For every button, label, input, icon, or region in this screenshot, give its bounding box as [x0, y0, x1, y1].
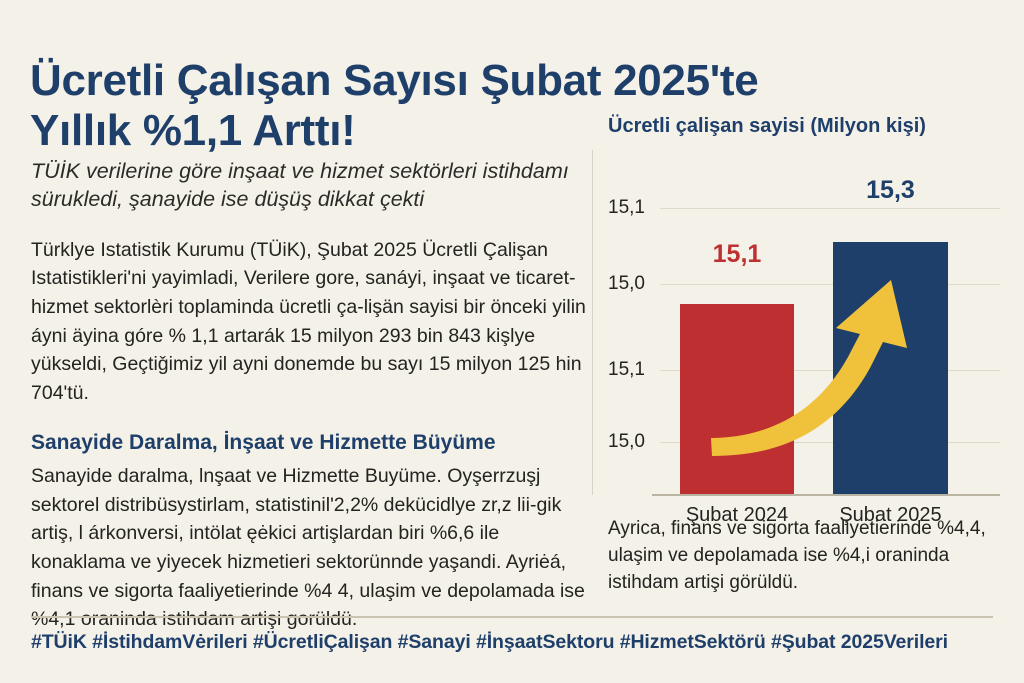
headline-line-1: Ücretli Çalışan Sayısı Şubat 2025'te: [30, 56, 758, 105]
chart-caption: Ayrica, finans ve sigorta faaliyetierind…: [608, 515, 988, 596]
footer-divider: [31, 616, 993, 618]
chart-column: Ücretli çalişan sayisi (Milyon kişi) 15,…: [608, 114, 1000, 507]
bar-subat-2024: [680, 304, 794, 494]
chart-title: Ücretli çalişan sayisi (Milyon kişi): [608, 114, 1000, 138]
infographic-poster: Ücretli Çalışan Sayısı Şubat 2025'te Yıl…: [0, 0, 1024, 683]
body-paragraph-1: Türklye Istatistik Kurumu (TÜiK), Şubat …: [31, 236, 594, 408]
y-axis-tick-2: 15,1: [608, 359, 650, 381]
bar-value-2024: 15,1: [680, 240, 794, 269]
x-axis-line: [652, 494, 1000, 496]
hashtag-footer: #TÜiK #İstihdamVėrileri #ÜcretliÇalişan …: [31, 631, 1006, 654]
gridline-1: [660, 284, 1000, 285]
body-paragraph-2: Sanayide daralma, lnşaat ve Hizmette Buy…: [31, 462, 594, 634]
bar-chart: 15,1 15,0 15,1 15,0 15,1 15,3 Şubat 2024: [608, 152, 1000, 507]
y-axis-tick-3: 15,0: [608, 431, 650, 453]
left-content-column: TÜİK verilerine göre inşaat ve hizmet se…: [31, 157, 594, 634]
bar-subat-2025: [833, 242, 948, 494]
y-axis-tick-1: 15,0: [608, 273, 650, 295]
section-heading: Sanayide Daralma, İnşaat ve Hizmette Büy…: [31, 430, 594, 455]
y-axis-tick-0: 15,1: [608, 197, 650, 219]
subtitle: TÜİK verilerine göre inşaat ve hizmet se…: [31, 157, 594, 214]
column-divider: [592, 150, 593, 495]
bar-value-2025: 15,3: [833, 176, 948, 205]
gridline-0: [660, 208, 1000, 209]
